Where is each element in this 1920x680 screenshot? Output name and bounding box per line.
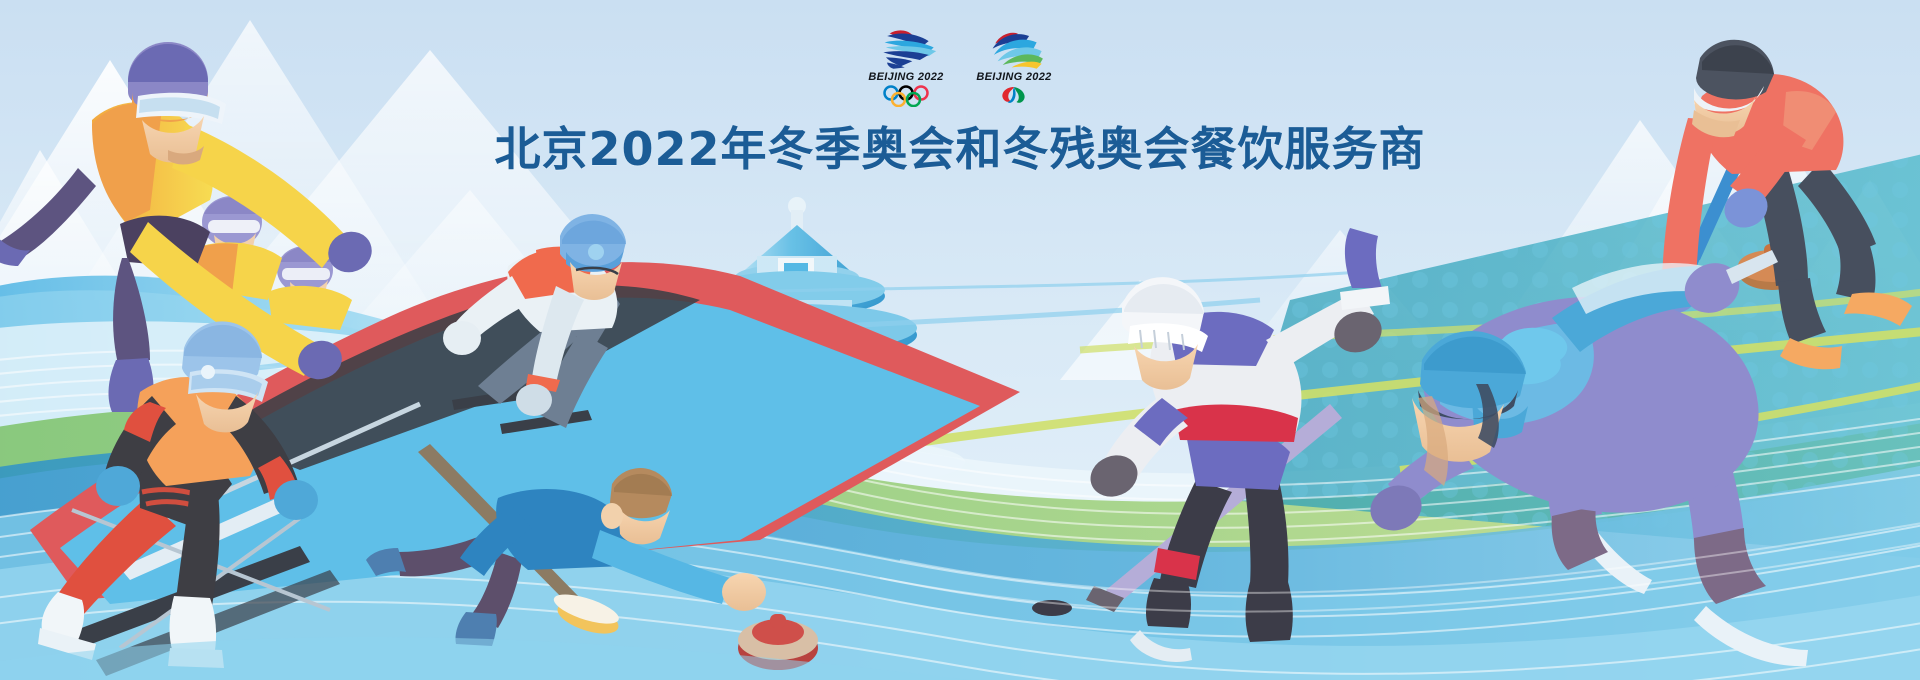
paralympic-agitos bbox=[990, 85, 1038, 107]
beijing-2022-paralympic-emblem bbox=[975, 26, 1053, 70]
paralympic-wordmark: BEIJING 2022 bbox=[976, 72, 1051, 83]
page-title: 北京2022年冬季奥会和冬残奥会餐饮服务商 bbox=[0, 124, 1920, 175]
olympic-banner: BEIJING 2022 BEIJING 2022 bbox=[0, 0, 1920, 680]
olympic-emblem-block: BEIJING 2022 bbox=[863, 26, 949, 107]
paralympic-emblem-block: BEIJING 2022 bbox=[971, 26, 1057, 107]
beijing-2022-olympic-emblem bbox=[867, 26, 945, 70]
olympic-wordmark: BEIJING 2022 bbox=[868, 72, 943, 83]
emblem-group: BEIJING 2022 BEIJING 2022 bbox=[860, 26, 1060, 118]
olympic-rings bbox=[870, 85, 942, 107]
